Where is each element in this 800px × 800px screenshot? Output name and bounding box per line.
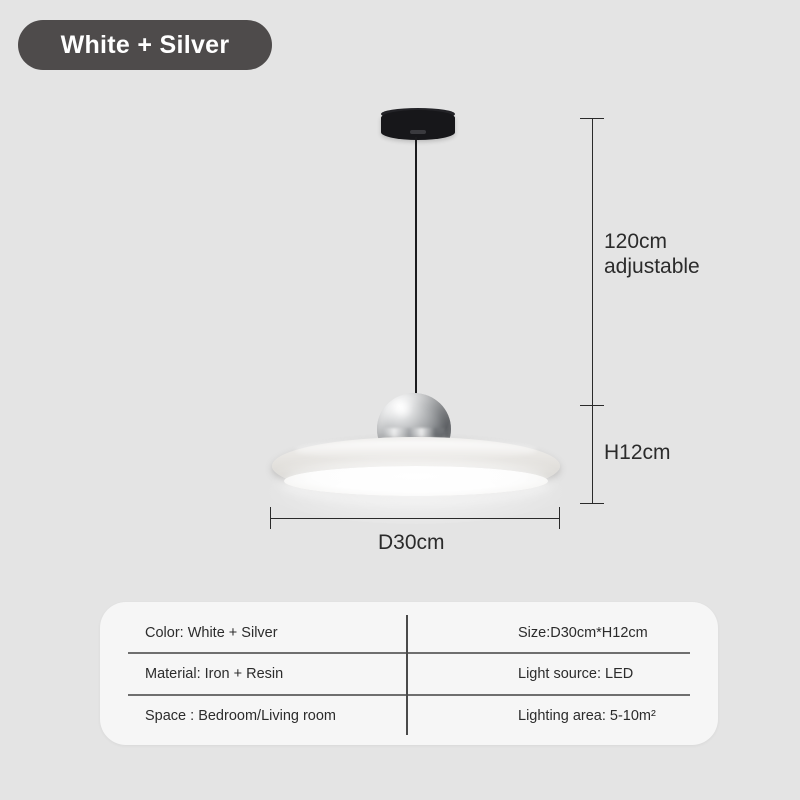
spec-row: Color: White + Silver Size:D30cm*H12cm	[128, 612, 718, 654]
spec-cell-light-source: Light source: LED	[463, 666, 633, 682]
spec-cell-color: Color: White + Silver	[128, 625, 463, 641]
led-diffuser-panel	[284, 466, 548, 496]
pendant-lamp-illustration	[0, 0, 800, 560]
height-dimension-tick-bottom	[580, 503, 604, 504]
spec-cell-size: Size:D30cm*H12cm	[463, 625, 648, 641]
specification-card: Color: White + Silver Size:D30cm*H12cm M…	[100, 602, 718, 745]
diameter-dimension-line	[270, 518, 560, 519]
spec-cell-material: Material: Iron + Resin	[128, 666, 463, 682]
drop-dimension-tick-top	[580, 118, 604, 119]
shade-top-sheen	[295, 440, 537, 460]
height-dimension-line	[592, 405, 593, 504]
product-image-page: White + Silver 120cm adjustable H12cm D3…	[0, 0, 800, 800]
diameter-dimension-label: D30cm	[378, 530, 445, 555]
drop-dimension-label: 120cm adjustable	[604, 229, 700, 279]
spec-cell-space: Space : Bedroom/Living room	[128, 708, 463, 724]
specification-grid: Color: White + Silver Size:D30cm*H12cm M…	[100, 602, 718, 745]
spec-row: Space : Bedroom/Living room Lighting are…	[128, 695, 718, 737]
diameter-dimension-tick-right	[559, 507, 560, 529]
ceiling-canopy	[381, 110, 455, 140]
drop-dimension-line	[592, 118, 593, 406]
chrome-ball-highlight	[389, 400, 414, 417]
suspension-cord	[415, 137, 417, 405]
canopy-screw-detail	[410, 130, 426, 134]
diameter-dimension-tick-left	[270, 507, 271, 529]
spec-row: Material: Iron + Resin Light source: LED	[128, 653, 718, 695]
spec-cell-lighting-area: Lighting area: 5-10m²	[463, 708, 656, 724]
height-dimension-label: H12cm	[604, 440, 671, 465]
